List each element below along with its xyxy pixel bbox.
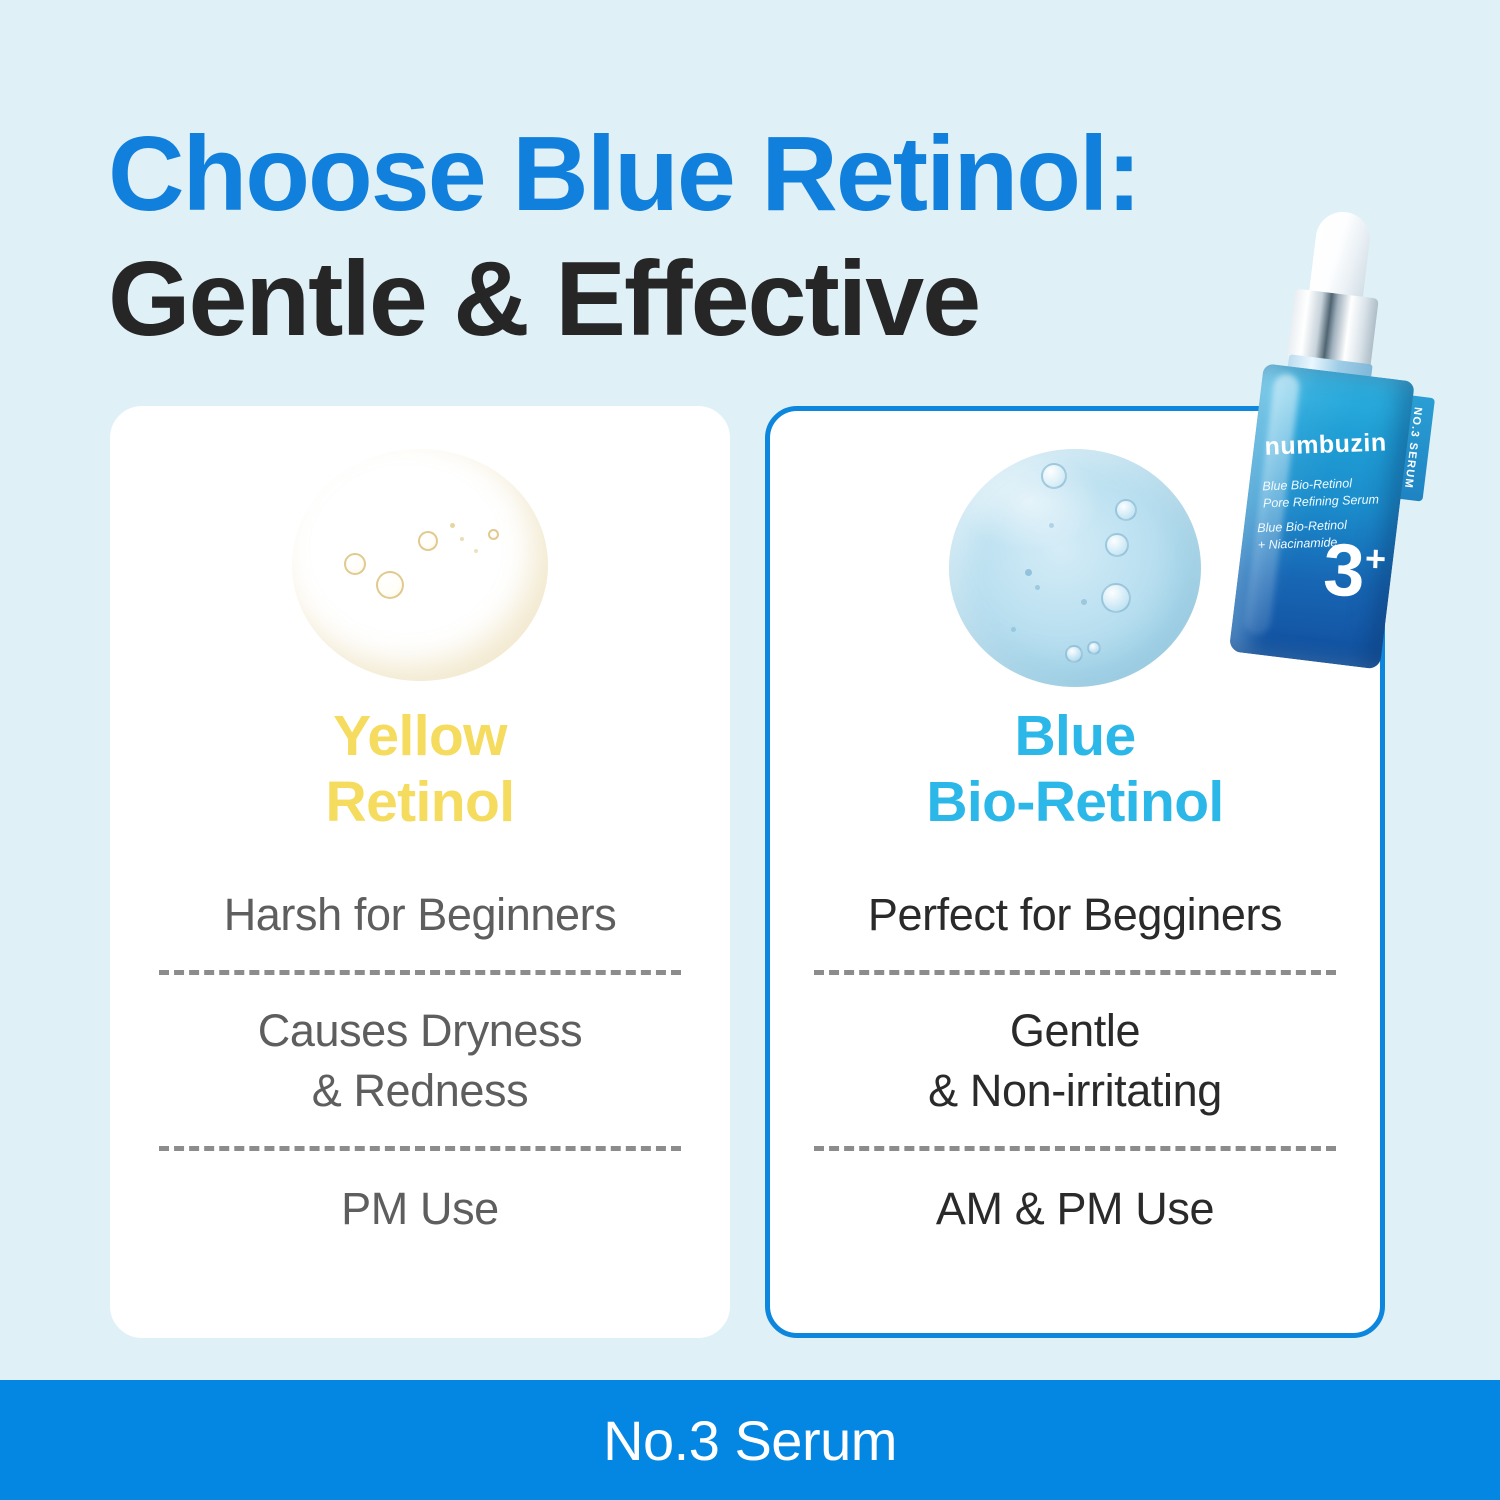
feature-item: Harsh for Beginners	[153, 873, 687, 970]
feature-text: AM & PM Use	[936, 1183, 1214, 1234]
banner-text: No.3 Serum	[603, 1408, 897, 1473]
card-title-line-1: Blue	[770, 703, 1380, 769]
droplet-speck	[460, 537, 464, 541]
feature-text: Perfect for Begginers	[868, 889, 1282, 940]
bottle-body: numbuzin Blue Bio-Retinol Pore Refining …	[1229, 363, 1415, 669]
feature-text: Gentle	[808, 1001, 1342, 1060]
droplet-bubble	[488, 529, 499, 540]
brand-logo-text: numbuzin	[1264, 428, 1403, 462]
card-title-line-2: Retinol	[115, 769, 725, 835]
bottle-number-suffix: +	[1364, 538, 1386, 580]
feature-item: Causes Dryness & Redness	[153, 975, 687, 1146]
droplet-speck	[1011, 627, 1016, 632]
bottle-label-product: Blue Bio-Retinol Pore Refining Serum	[1262, 474, 1395, 513]
yellow-serum-droplet	[292, 449, 548, 681]
headline-line-1: Choose Blue Retinol:	[108, 112, 1308, 237]
droplet-bubble	[1101, 583, 1131, 613]
droplet-bubble	[1105, 533, 1129, 557]
card-title-line-2: Bio-Retinol	[770, 769, 1380, 835]
droplet-speck	[1081, 599, 1087, 605]
droplet-bubble	[418, 531, 438, 551]
feature-item: AM & PM Use	[808, 1151, 1342, 1250]
feature-text: Causes Dryness	[153, 1001, 687, 1060]
bottle-label-line-2: Pore Refining Serum	[1263, 491, 1396, 513]
feature-text: & Non-irritating	[808, 1061, 1342, 1120]
card-title-line-1: Yellow	[115, 703, 725, 769]
blue-serum-droplet	[949, 449, 1201, 687]
droplet-speck	[474, 549, 478, 553]
bottle-number: 3+	[1322, 533, 1387, 609]
feature-list-blue: Perfect for Begginers Gentle & Non-irrit…	[808, 873, 1342, 1251]
card-yellow-retinol: Yellow Retinol Harsh for Beginners Cause…	[110, 406, 730, 1338]
droplet-bubble	[1115, 499, 1137, 521]
droplet-speck	[1049, 523, 1054, 528]
card-title-yellow: Yellow Retinol	[115, 703, 725, 835]
feature-text: Harsh for Beginners	[224, 889, 617, 940]
droplet-speck	[1035, 585, 1040, 590]
feature-item: PM Use	[153, 1151, 687, 1250]
bottom-banner: No.3 Serum	[0, 1380, 1500, 1500]
feature-text: PM Use	[341, 1183, 499, 1234]
droplet-speck	[1025, 569, 1032, 576]
page-title: Choose Blue Retinol: Gentle & Effective	[108, 112, 1308, 362]
card-title-blue: Blue Bio-Retinol	[770, 703, 1380, 835]
droplet-bubble	[1087, 641, 1101, 655]
feature-text: & Redness	[153, 1061, 687, 1120]
feature-item: Gentle & Non-irritating	[808, 975, 1342, 1146]
bottle-number-value: 3	[1322, 528, 1366, 612]
droplet-bubble	[1041, 463, 1067, 489]
feature-item: Perfect for Begginers	[808, 873, 1342, 970]
feature-list-yellow: Harsh for Beginners Causes Dryness & Red…	[153, 873, 687, 1251]
headline-line-2: Gentle & Effective	[108, 237, 1308, 362]
droplet-bubble	[1065, 645, 1083, 663]
droplet-bubble	[376, 571, 404, 599]
yellow-droplet-area	[115, 445, 725, 715]
droplet-bubble	[344, 553, 366, 575]
droplet-speck	[450, 523, 455, 528]
